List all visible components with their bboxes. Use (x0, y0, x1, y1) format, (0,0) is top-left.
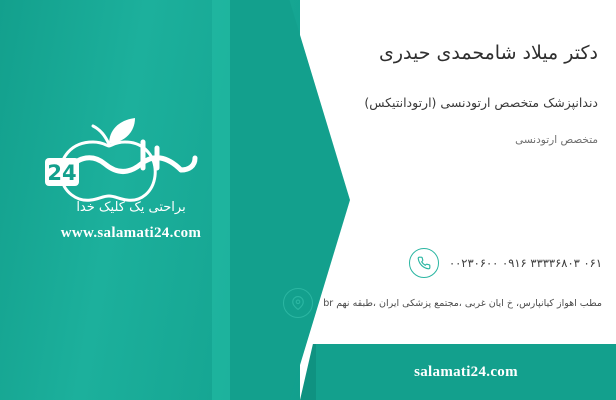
logo-block: 24 براحتی یک کلیک خدا www.salamati24.com (16, 108, 246, 258)
doctor-subtitle: متخصص ارتودنسی (515, 134, 598, 146)
card-right-content: دکتر میلاد شامحمدی حیدری دندانپزشک متخصص… (300, 0, 616, 400)
logo-badge-number: 24 (47, 161, 76, 185)
doctor-name: دکتر میلاد شامحمدی حیدری (379, 42, 598, 64)
phone-number[interactable]: ۰۶۱ ۳۳۳۳۶۸۰۳ ۰۹۱۶ ۰۰۲۳۰۶۰۰ (449, 256, 602, 270)
business-card: 24 براحتی یک کلیک خدا www.salamati24.com… (0, 0, 616, 400)
footer-bar: salamati24.com (316, 344, 616, 400)
phone-icon (409, 248, 439, 278)
apple-leaf-logo-icon: 24 (31, 108, 231, 204)
footer-site[interactable]: salamati24.com (414, 364, 518, 381)
address-row: مطب اهواز کیانپارس، خ ایان غربی ،مجتمع پ… (283, 288, 602, 318)
location-pin-icon (283, 288, 313, 318)
logo-script-text: براحتی یک کلیک خدا (16, 200, 246, 215)
address-text: مطب اهواز کیانپارس، خ ایان غربی ،مجتمع پ… (323, 298, 602, 309)
logo-url[interactable]: www.salamati24.com (16, 225, 246, 242)
doctor-specialty: دندانپزشک متخصص ارتودنسی (ارتودانتیکس) (364, 95, 598, 110)
phone-row: ۰۶۱ ۳۳۳۳۶۸۰۳ ۰۹۱۶ ۰۰۲۳۰۶۰۰ (409, 248, 602, 278)
